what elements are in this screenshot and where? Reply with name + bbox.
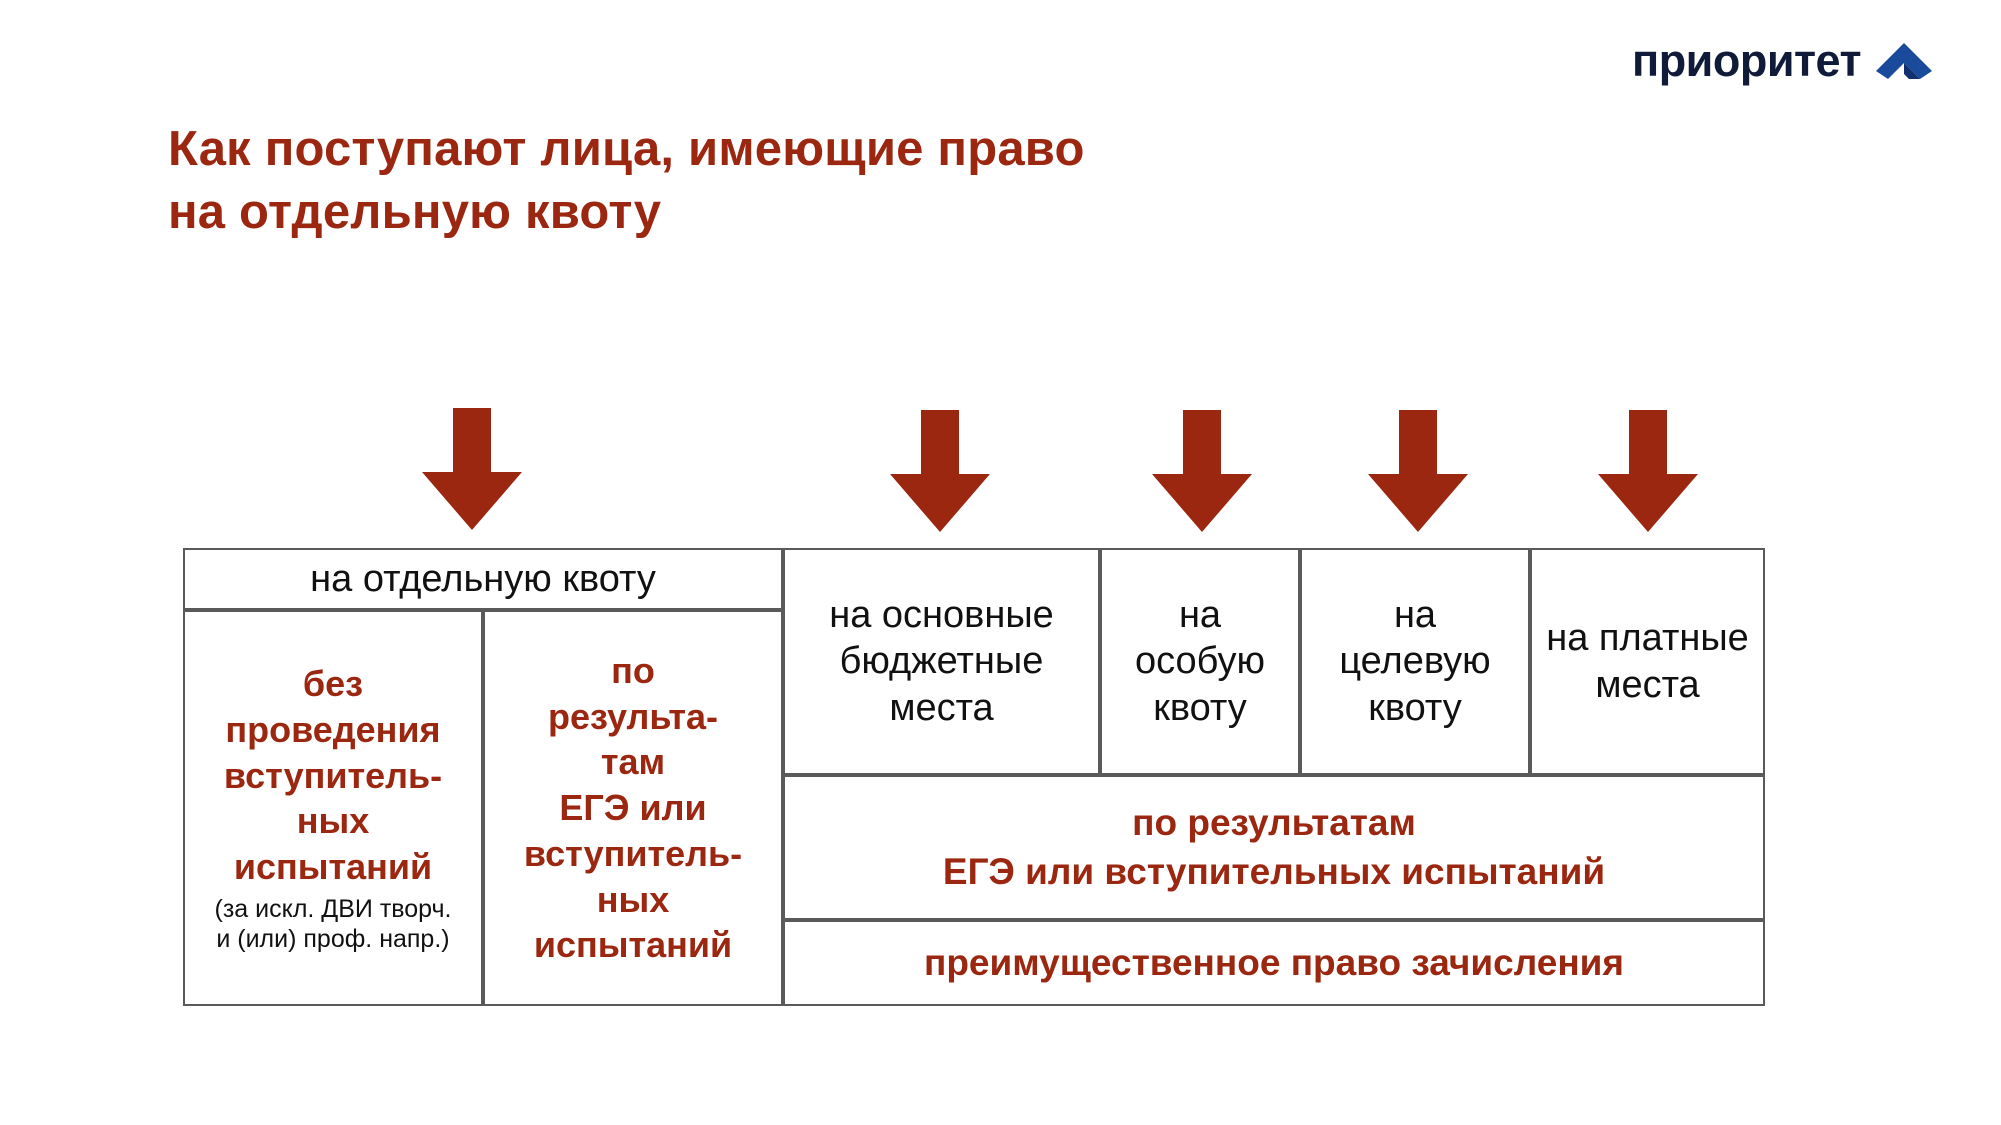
cell-merged-preferential-right-label: преимущественное право зачисления xyxy=(924,939,1624,987)
cell-no-entrance-exams: без проведения вступитель- ных испытаний… xyxy=(183,610,483,1006)
admission-routes-table: на отдельную квоту без проведения вступи… xyxy=(183,548,1765,1006)
header-main-budget-places: на основные бюджетные места xyxy=(783,548,1100,775)
cell-by-ege-or-exams: по результа- там ЕГЭ или вступитель- ных… xyxy=(483,610,783,1006)
arrow-head xyxy=(1152,474,1252,532)
arrow-head xyxy=(1598,474,1698,532)
arrow-down-icon-special-quota xyxy=(1152,410,1252,532)
header-main-budget-places-label: на основные бюджетные места xyxy=(829,592,1054,731)
arrow-shaft xyxy=(1183,410,1221,482)
arrow-shaft xyxy=(1399,410,1437,482)
header-paid-places: на платные места xyxy=(1530,548,1765,775)
header-special-quota-label: на особую квоту xyxy=(1135,592,1265,731)
header-separate-quota-label: на отдельную квоту xyxy=(310,556,656,602)
page-title: Как поступают лица, имеющие право на отд… xyxy=(168,118,1085,243)
header-paid-places-label: на платные места xyxy=(1546,615,1749,708)
arrow-shaft xyxy=(453,408,491,480)
cell-by-ege-or-exams-main: по результа- там ЕГЭ или вступитель- ных… xyxy=(524,648,742,968)
cell-merged-by-results-label: по результатам ЕГЭ или вступительных исп… xyxy=(943,799,1605,895)
arrow-down-icon-main-budget xyxy=(890,410,990,532)
header-targeted-quota-label: на целевую квоту xyxy=(1339,592,1490,731)
chevron-mark-icon xyxy=(1875,41,1933,81)
cell-no-entrance-exams-main: без проведения вступитель- ных испытаний xyxy=(224,661,442,890)
arrow-down-icon-paid-places xyxy=(1598,410,1698,532)
cell-merged-by-results: по результатам ЕГЭ или вступительных исп… xyxy=(783,775,1765,920)
header-targeted-quota: на целевую квоту xyxy=(1300,548,1530,775)
brand-logo: приоритет xyxy=(1632,38,1933,83)
arrow-head xyxy=(422,472,522,530)
arrow-down-icon-targeted-quota xyxy=(1368,410,1468,532)
header-separate-quota: на отдельную квоту xyxy=(183,548,783,610)
arrow-head xyxy=(890,474,990,532)
arrow-head xyxy=(1368,474,1468,532)
arrow-shaft xyxy=(921,410,959,482)
arrow-shaft xyxy=(1629,410,1667,482)
cell-no-entrance-exams-note: (за искл. ДВИ творч. и (или) проф. напр.… xyxy=(215,894,452,955)
brand-name: приоритет xyxy=(1632,38,1861,83)
header-special-quota: на особую квоту xyxy=(1100,548,1300,775)
cell-merged-preferential-right: преимущественное право зачисления xyxy=(783,920,1765,1006)
arrow-down-icon-separate-quota xyxy=(422,408,522,530)
